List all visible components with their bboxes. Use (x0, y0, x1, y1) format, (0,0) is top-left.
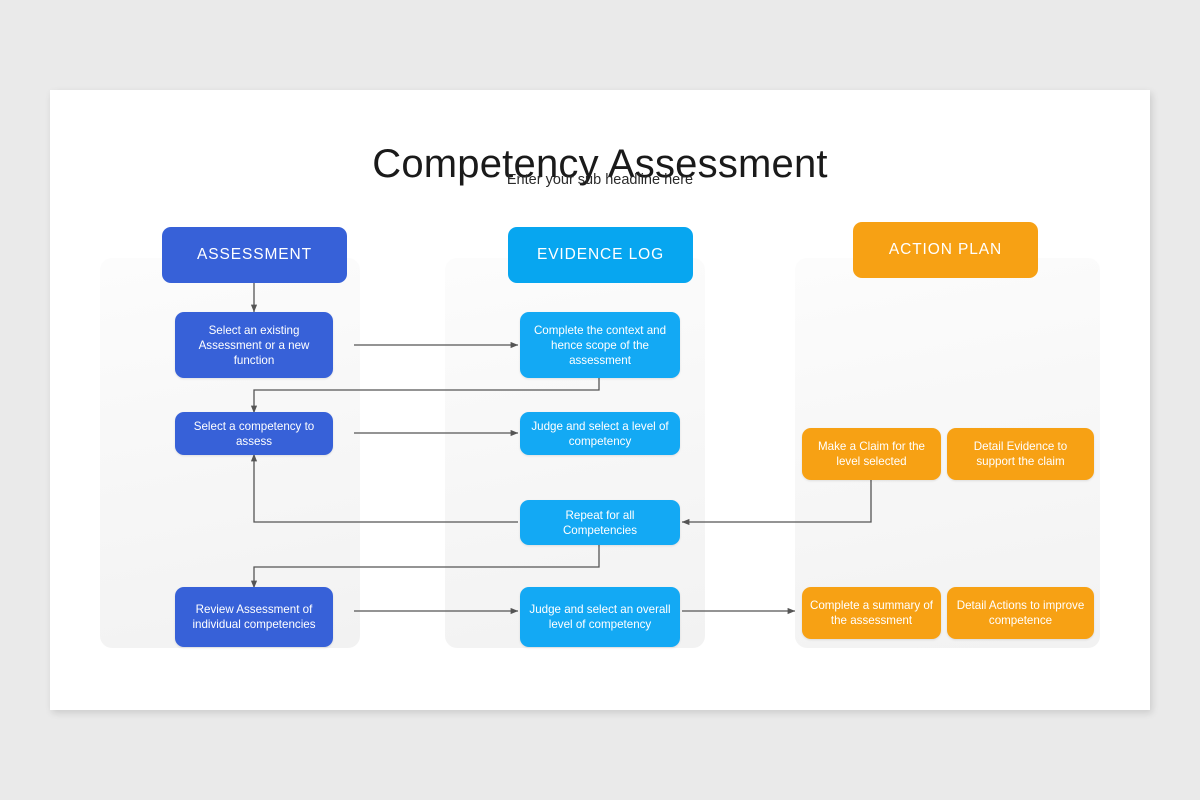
node-select-competency[interactable]: Select a competency to assess (175, 412, 333, 455)
column-header-evidence-log[interactable]: EVIDENCE LOG (508, 227, 693, 283)
node-review-assessment[interactable]: Review Assessment of individual competen… (175, 587, 333, 647)
node-complete-context[interactable]: Complete the context and hence scope of … (520, 312, 680, 378)
node-make-claim[interactable]: Make a Claim for the level selected (802, 428, 941, 480)
node-detail-actions[interactable]: Detail Actions to improve competence (947, 587, 1094, 639)
node-judge-level[interactable]: Judge and select a level of competency (520, 412, 680, 455)
slide-canvas: Competency Assessment Enter your sub hea… (50, 90, 1150, 710)
node-judge-overall-level[interactable]: Judge and select an overall level of com… (520, 587, 680, 647)
node-detail-evidence[interactable]: Detail Evidence to support the claim (947, 428, 1094, 480)
column-header-action-plan[interactable]: ACTION PLAN (853, 222, 1038, 278)
node-complete-summary[interactable]: Complete a summary of the assessment (802, 587, 941, 639)
node-select-existing-assessment[interactable]: Select an existing Assessment or a new f… (175, 312, 333, 378)
node-repeat-competencies[interactable]: Repeat for all Competencies (520, 500, 680, 545)
column-header-assessment[interactable]: ASSESSMENT (162, 227, 347, 283)
page-subtitle: Enter your sub headline here (50, 172, 1150, 188)
